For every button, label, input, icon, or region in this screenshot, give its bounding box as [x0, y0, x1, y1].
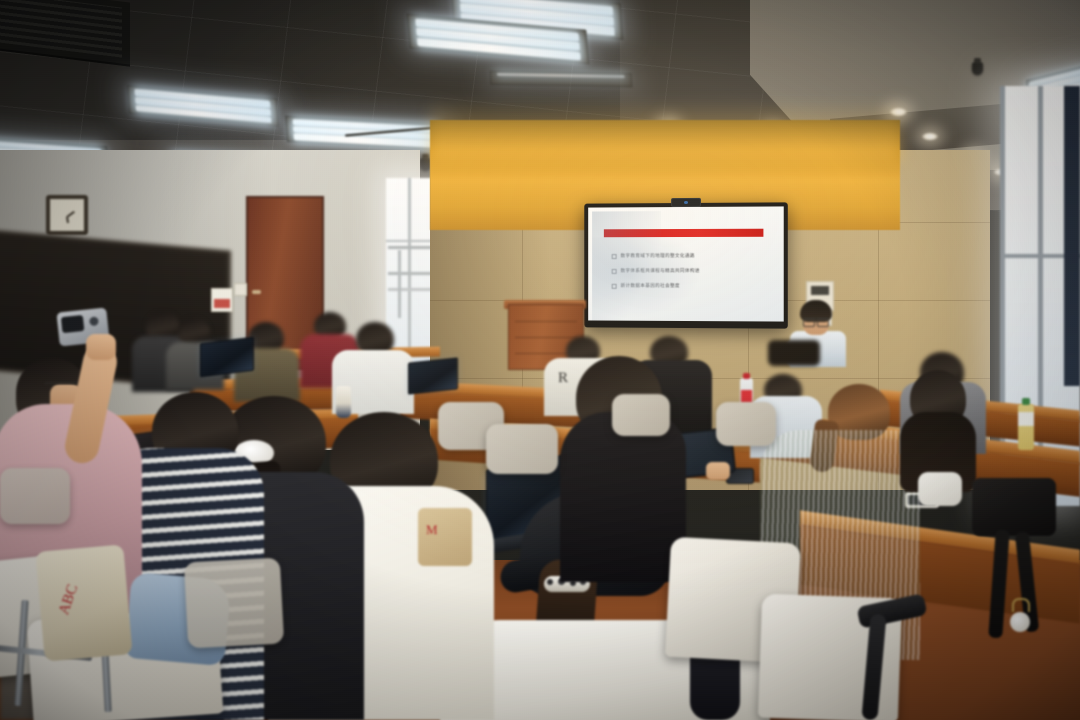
- ceiling-speaker: [972, 62, 983, 75]
- shirt-letter-print: R: [558, 370, 568, 387]
- light-switch[interactable]: [234, 283, 247, 296]
- bag-charm: [1010, 612, 1030, 632]
- bag-charm-hook-icon: [1012, 598, 1030, 612]
- laptop-screen[interactable]: [200, 337, 254, 378]
- presentation-display[interactable]: 数字教育域下的地理的整文化通路 数字体系框共课程与精高共同体构进 新计数据本基因…: [584, 202, 788, 328]
- railing-post: [398, 250, 401, 318]
- glasses-icon: [44, 382, 78, 392]
- presenter-glasses-icon: [803, 318, 829, 325]
- camera-lens-icon: [61, 315, 85, 333]
- tote-bag-print: M: [426, 522, 439, 538]
- window-right-outer-frame: [1064, 86, 1080, 386]
- chair[interactable]: [612, 394, 670, 436]
- person-tablet-body: [560, 412, 686, 582]
- door-handle[interactable]: [252, 290, 261, 294]
- chair[interactable]: [0, 468, 70, 524]
- display-webcam-icon: [671, 198, 701, 207]
- handbag: [972, 478, 1056, 536]
- lecture-room-photo: 数字教育域下的地理的整文化通路 数字体系框共课程与精高共同体构进 新计数据本基因…: [0, 0, 1080, 720]
- hand: [86, 334, 116, 360]
- accent-band-glow: [430, 100, 900, 160]
- tote-bag: M: [418, 508, 472, 566]
- laptop-screen[interactable]: [408, 357, 458, 394]
- wall-clock: [46, 195, 88, 235]
- camera-flash-icon: [89, 316, 99, 326]
- chair[interactable]: [486, 424, 558, 474]
- chair[interactable]: [184, 558, 284, 649]
- tissue-bundle: [918, 472, 962, 506]
- tote-bag: ABC: [35, 544, 132, 661]
- hand: [706, 462, 730, 480]
- chair[interactable]: [716, 402, 776, 446]
- tote-bag-print: ABC: [56, 582, 82, 617]
- presenter-laptop: [768, 340, 820, 366]
- display-panel: 数字教育域下的地理的整文化通路 数字体系框共课程与精高共同体构进 新计数据本基因…: [588, 206, 784, 321]
- ceiling-light-troffer: [490, 71, 633, 88]
- door-sign: [211, 288, 233, 312]
- display-glare: [592, 237, 711, 322]
- water-bottle: [1018, 404, 1034, 450]
- ceiling-downlight: [921, 132, 939, 141]
